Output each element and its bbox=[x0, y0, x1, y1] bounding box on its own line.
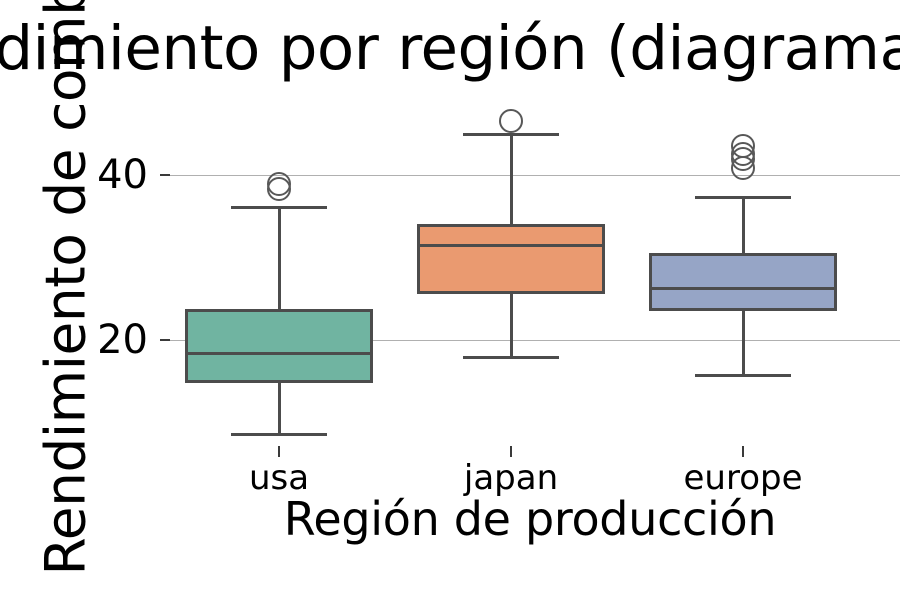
x-tick-label-usa: usa bbox=[159, 461, 399, 495]
box-usa bbox=[185, 309, 373, 383]
cap-lower-europe bbox=[695, 374, 791, 377]
median-line-usa bbox=[185, 352, 373, 355]
y-axis-label: Rendimiento de combustible bbox=[39, 16, 94, 576]
whisker-lower-japan bbox=[510, 294, 513, 358]
outlier-europe-3 bbox=[731, 134, 755, 158]
median-line-europe bbox=[649, 287, 837, 290]
x-tick-label-europe: europe bbox=[623, 461, 863, 495]
cap-upper-usa bbox=[231, 206, 327, 209]
x-tick-mark-europe bbox=[742, 446, 744, 457]
chart-title: Rendimiento por región (diagrama de caja… bbox=[0, 18, 900, 79]
x-tick-mark-japan bbox=[510, 446, 512, 457]
cap-upper-japan bbox=[463, 133, 559, 136]
x-tick-label-japan: japan bbox=[391, 461, 631, 495]
y-tick-mark bbox=[160, 339, 170, 341]
cap-lower-usa bbox=[231, 433, 327, 436]
whisker-upper-usa bbox=[278, 207, 281, 308]
x-axis-label: Región de producción bbox=[160, 496, 900, 542]
cap-lower-japan bbox=[463, 356, 559, 359]
median-line-japan bbox=[417, 244, 605, 247]
y-tick-mark bbox=[160, 174, 170, 176]
boxplot-figure: 4020usajapaneurope Rendimiento por regió… bbox=[0, 0, 900, 600]
box-europe bbox=[649, 253, 837, 311]
whisker-lower-europe bbox=[742, 311, 745, 375]
outlier-usa-1 bbox=[267, 172, 291, 196]
whisker-upper-europe bbox=[742, 197, 745, 253]
box-japan bbox=[417, 224, 605, 294]
whisker-upper-japan bbox=[510, 134, 513, 224]
outlier-japan-0 bbox=[499, 109, 523, 133]
cap-upper-europe bbox=[695, 196, 791, 199]
whisker-lower-usa bbox=[278, 383, 281, 434]
x-tick-mark-usa bbox=[278, 446, 280, 457]
